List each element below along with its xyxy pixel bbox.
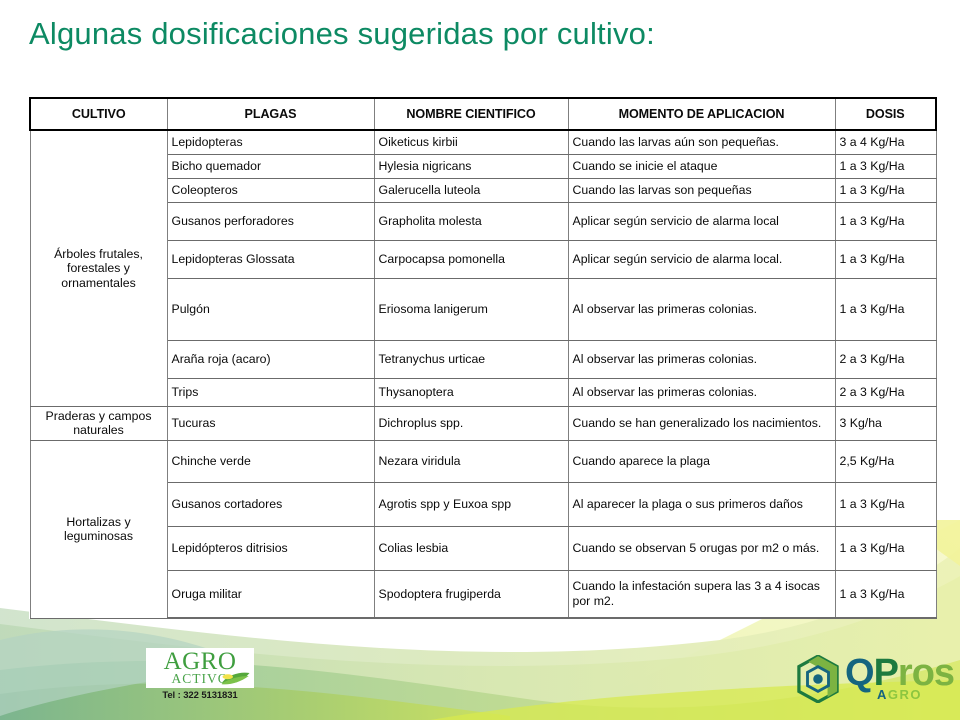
cell-dosis: 2,5 Kg/Ha (835, 440, 936, 482)
cell-nombre-cientifico: Tetranychus urticae (374, 340, 568, 378)
cell-momento-aplicacion: Al observar las primeras colonias. (568, 340, 835, 378)
cell-momento-aplicacion: Cuando la infestación supera las 3 a 4 i… (568, 570, 835, 618)
cell-plaga: Gusanos cortadores (167, 482, 374, 526)
cell-plaga: Lepidopteras Glossata (167, 240, 374, 278)
cell-plaga: Gusanos perforadores (167, 202, 374, 240)
agro-activo-logo: AGRO ACTIVO Tel : 322 5131831 (146, 648, 254, 701)
cell-dosis: 3 Kg/ha (835, 406, 936, 440)
cell-dosis: 1 a 3 Kg/Ha (835, 202, 936, 240)
cell-dosis: 1 a 3 Kg/Ha (835, 526, 936, 570)
cell-dosis: 1 a 3 Kg/Ha (835, 570, 936, 618)
cell-nombre-cientifico: Eriosoma lanigerum (374, 278, 568, 340)
cell-cultivo: Árboles frutales, forestales y ornamenta… (30, 130, 167, 406)
cell-plaga: Bicho quemador (167, 154, 374, 178)
cell-dosis: 1 a 3 Kg/Ha (835, 154, 936, 178)
dosage-table: CULTIVO PLAGAS NOMBRE CIENTIFICO MOMENTO… (29, 97, 937, 619)
cell-nombre-cientifico: Dichroplus spp. (374, 406, 568, 440)
cell-dosis: 3 a 4 Kg/Ha (835, 130, 936, 154)
qpros-wordmark: QPros (845, 656, 954, 690)
cell-momento-aplicacion: Al observar las primeras colonias. (568, 378, 835, 406)
slide-canvas: Algunas dosificaciones sugeridas por cul… (0, 0, 960, 720)
table-body: Árboles frutales, forestales y ornamenta… (30, 130, 936, 618)
cell-plaga: Oruga militar (167, 570, 374, 618)
cell-dosis: 1 a 3 Kg/Ha (835, 240, 936, 278)
column-header-nombre-cientifico: NOMBRE CIENTIFICO (374, 98, 568, 130)
table-header-row: CULTIVO PLAGAS NOMBRE CIENTIFICO MOMENTO… (30, 98, 936, 130)
cell-plaga: Chinche verde (167, 440, 374, 482)
cell-nombre-cientifico: Nezara viridula (374, 440, 568, 482)
cell-nombre-cientifico: Oiketicus kirbii (374, 130, 568, 154)
cell-nombre-cientifico: Colias lesbia (374, 526, 568, 570)
cell-plaga: Araña roja (acaro) (167, 340, 374, 378)
cell-nombre-cientifico: Agrotis spp y Euxoa spp (374, 482, 568, 526)
cell-nombre-cientifico: Spodoptera frugiperda (374, 570, 568, 618)
column-header-plagas: PLAGAS (167, 98, 374, 130)
column-header-dosis: DOSIS (835, 98, 936, 130)
page-title: Algunas dosificaciones sugeridas por cul… (29, 16, 655, 52)
cell-dosis: 1 a 3 Kg/Ha (835, 178, 936, 202)
cell-cultivo: Hortalizas y leguminosas (30, 440, 167, 618)
qpros-wordmark-group: QPros AGRO (845, 656, 954, 702)
cell-plaga: Lepidopteras (167, 130, 374, 154)
qpros-letter-q: Q (845, 652, 874, 694)
cell-momento-aplicacion: Cuando se inicie el ataque (568, 154, 835, 178)
cell-plaga: Trips (167, 378, 374, 406)
qpros-sub-a: A (877, 687, 888, 702)
cell-dosis: 1 a 3 Kg/Ha (835, 278, 936, 340)
cell-momento-aplicacion: Aplicar según servicio de alarma local. (568, 240, 835, 278)
table-row: Hortalizas y leguminosasChinche verdeNez… (30, 440, 936, 482)
cell-nombre-cientifico: Carpocapsa pomonella (374, 240, 568, 278)
cell-plaga: Coleopteros (167, 178, 374, 202)
qpros-sub-gro: GRO (888, 687, 922, 702)
cell-nombre-cientifico: Thysanoptera (374, 378, 568, 406)
leaf-icon (221, 671, 251, 687)
cell-momento-aplicacion: Cuando se observan 5 orugas por m2 o más… (568, 526, 835, 570)
cell-dosis: 2 a 3 Kg/Ha (835, 340, 936, 378)
column-header-cultivo: CULTIVO (30, 98, 167, 130)
agro-logo-phone: Tel : 322 5131831 (146, 690, 254, 701)
cell-momento-aplicacion: Al aparecer la plaga o sus primeros daño… (568, 482, 835, 526)
cell-dosis: 2 a 3 Kg/Ha (835, 378, 936, 406)
cell-nombre-cientifico: Grapholita molesta (374, 202, 568, 240)
cell-dosis: 1 a 3 Kg/Ha (835, 482, 936, 526)
cell-nombre-cientifico: Hylesia nigricans (374, 154, 568, 178)
cell-momento-aplicacion: Cuando se han generalizado los nacimient… (568, 406, 835, 440)
cell-momento-aplicacion: Cuando las larvas aún son pequeñas. (568, 130, 835, 154)
agro-logo-box: AGRO ACTIVO (146, 648, 254, 688)
cell-plaga: Tucuras (167, 406, 374, 440)
cell-nombre-cientifico: Galerucella luteola (374, 178, 568, 202)
hexagon-logo-icon (797, 655, 839, 703)
table-row: Árboles frutales, forestales y ornamenta… (30, 130, 936, 154)
dosage-table-container: CULTIVO PLAGAS NOMBRE CIENTIFICO MOMENTO… (29, 97, 935, 619)
column-header-momento-de-aplicacion: MOMENTO DE APLICACION (568, 98, 835, 130)
cell-momento-aplicacion: Al observar las primeras colonias. (568, 278, 835, 340)
cell-momento-aplicacion: Aplicar según servicio de alarma local (568, 202, 835, 240)
cell-cultivo: Praderas y campos naturales (30, 406, 167, 440)
cell-plaga: Lepidópteros ditrisios (167, 526, 374, 570)
cell-plaga: Pulgón (167, 278, 374, 340)
qpros-agro-logo: QPros AGRO (797, 655, 954, 703)
cell-momento-aplicacion: Cuando las larvas son pequeñas (568, 178, 835, 202)
cell-momento-aplicacion: Cuando aparece la plaga (568, 440, 835, 482)
table-row: Praderas y campos naturalesTucurasDichro… (30, 406, 936, 440)
